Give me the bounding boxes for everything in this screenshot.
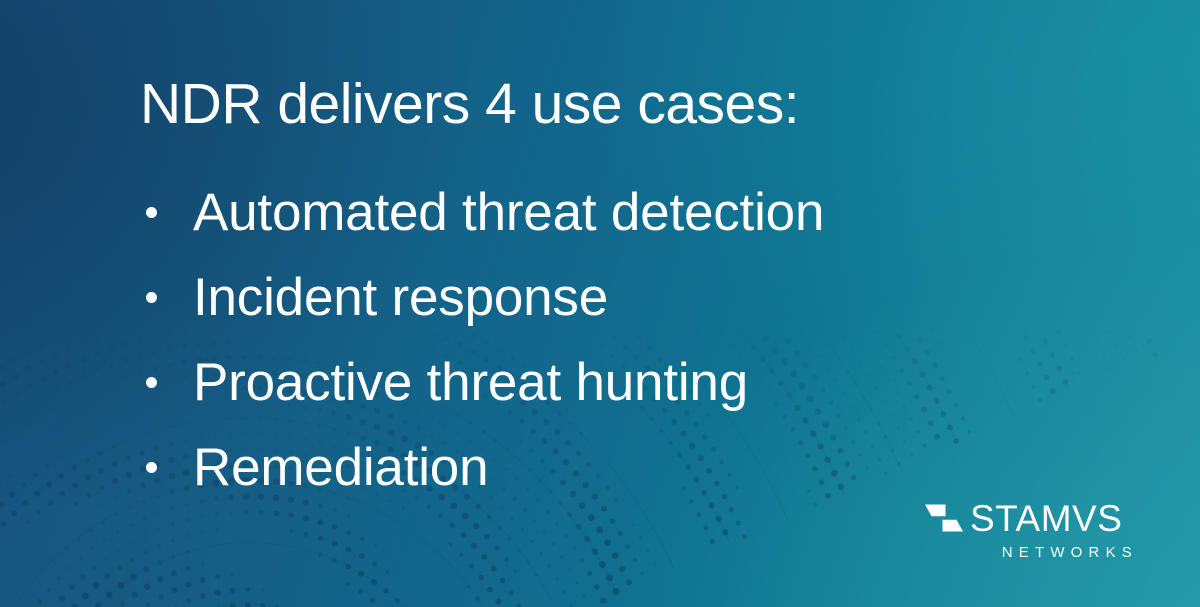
slide-canvas: NDR delivers 4 use cases: Automated thre… (0, 0, 1200, 607)
page-title: NDR delivers 4 use cases: (140, 74, 799, 136)
list-item-label: Incident response (193, 271, 608, 324)
bullet-dot-icon (146, 292, 157, 303)
list-item-label: Proactive threat hunting (193, 356, 748, 409)
slide-content: NDR delivers 4 use cases: Automated thre… (0, 0, 1200, 607)
use-case-list: Automated threat detection Incident resp… (140, 186, 824, 526)
list-item: Incident response (140, 271, 824, 356)
logo-wordmark: STAMVS (970, 500, 1122, 537)
list-item-label: Automated threat detection (193, 186, 824, 239)
list-item: Remediation (140, 441, 824, 526)
stamus-networks-logo: STAMVS NETWORKS (925, 500, 1140, 562)
logo-primary-row: STAMVS (925, 500, 1140, 536)
list-item: Proactive threat hunting (140, 356, 824, 441)
bullet-dot-icon (146, 462, 157, 473)
bullet-dot-icon (146, 207, 157, 218)
logo-subtitle: NETWORKS (925, 545, 1140, 560)
list-item: Automated threat detection (140, 186, 824, 271)
stamus-chevron-mark-icon (925, 503, 963, 533)
list-item-label: Remediation (193, 441, 488, 494)
bullet-dot-icon (146, 377, 157, 388)
